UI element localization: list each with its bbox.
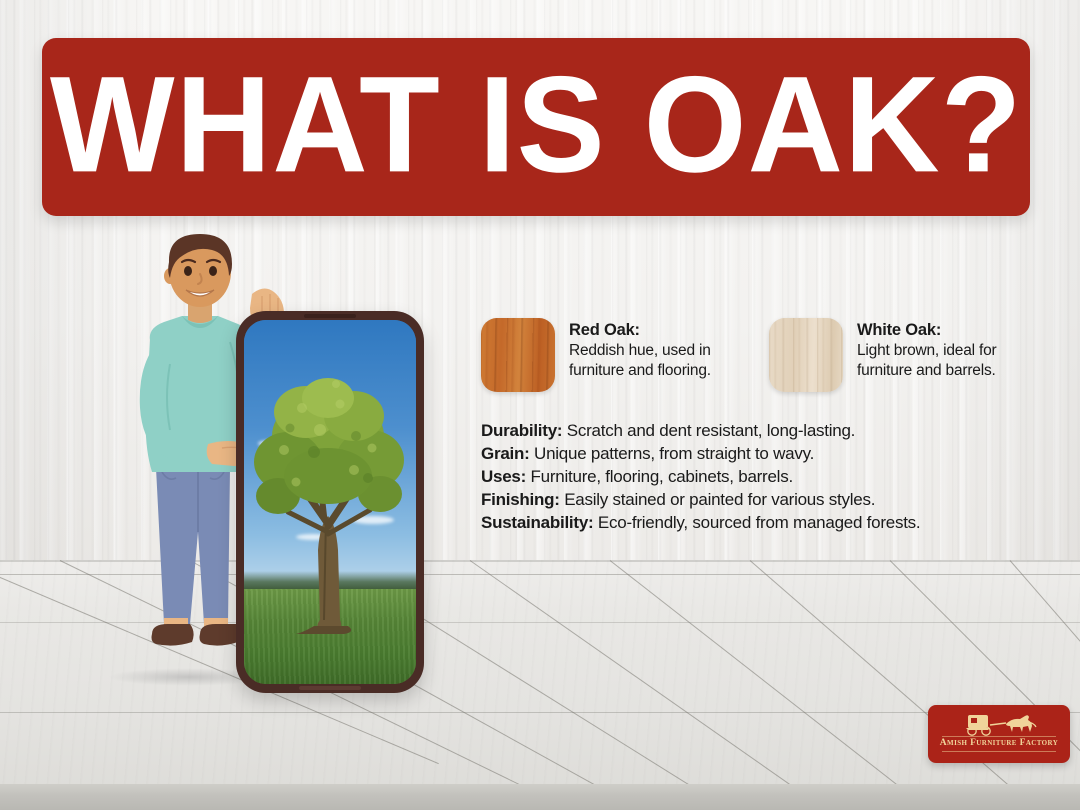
property-value: Unique patterns, from straight to wavy. [534, 444, 814, 463]
oak-properties-list: Durability: Scratch and dent resistant, … [481, 419, 1021, 535]
property-item: Grain: Unique patterns, from straight to… [481, 442, 1021, 465]
property-label: Grain: [481, 444, 530, 463]
property-value: Eco-friendly, sourced from managed fores… [598, 513, 920, 532]
page-title: WHAT IS OAK? [50, 57, 1023, 194]
brand-logo[interactable]: Amish Furniture Factory [928, 705, 1070, 763]
phone-speaker [304, 314, 356, 318]
property-value: Easily stained or painted for various st… [564, 490, 875, 509]
floor-front-edge [0, 784, 1080, 810]
oak-type-card: White Oak: Light brown, ideal for furnit… [769, 318, 1009, 392]
infographic-poster: WHAT IS OAK? [0, 0, 1080, 810]
property-label: Durability: [481, 421, 562, 440]
brand-logo-text: Amish Furniture Factory [928, 738, 1070, 748]
property-value: Furniture, flooring, cabinets, barrels. [531, 467, 793, 486]
property-item: Finishing: Easily stained or painted for… [481, 488, 1021, 511]
oak-type-card: Red Oak: Reddish hue, used in furniture … [481, 318, 721, 392]
property-label: Finishing: [481, 490, 560, 509]
title-banner: WHAT IS OAK? [42, 38, 1030, 216]
oak-tree [244, 320, 416, 684]
property-value: Scratch and dent resistant, long-lasting… [567, 421, 855, 440]
horse-and-buggy-icon [928, 710, 1070, 738]
phone-mockup [236, 311, 424, 693]
red-oak-swatch [481, 318, 555, 392]
oak-types-row: Red Oak: Reddish hue, used in furniture … [481, 318, 1021, 392]
property-label: Uses: [481, 467, 526, 486]
oak-type-name: Red Oak: [569, 320, 711, 341]
oak-type-desc-line1: Light brown, ideal for [857, 341, 997, 361]
oak-type-desc-line2: furniture and flooring. [569, 361, 711, 381]
oak-type-name: White Oak: [857, 320, 997, 341]
property-item: Sustainability: Eco-friendly, sourced fr… [481, 511, 1021, 534]
oak-type-desc-line1: Reddish hue, used in [569, 341, 711, 361]
phone-home-indicator [299, 686, 361, 690]
property-label: Sustainability: [481, 513, 593, 532]
phone-screen [244, 320, 416, 684]
property-item: Durability: Scratch and dent resistant, … [481, 419, 1021, 442]
oak-type-desc-line2: furniture and barrels. [857, 361, 997, 381]
property-item: Uses: Furniture, flooring, cabinets, bar… [481, 465, 1021, 488]
white-oak-swatch [769, 318, 843, 392]
